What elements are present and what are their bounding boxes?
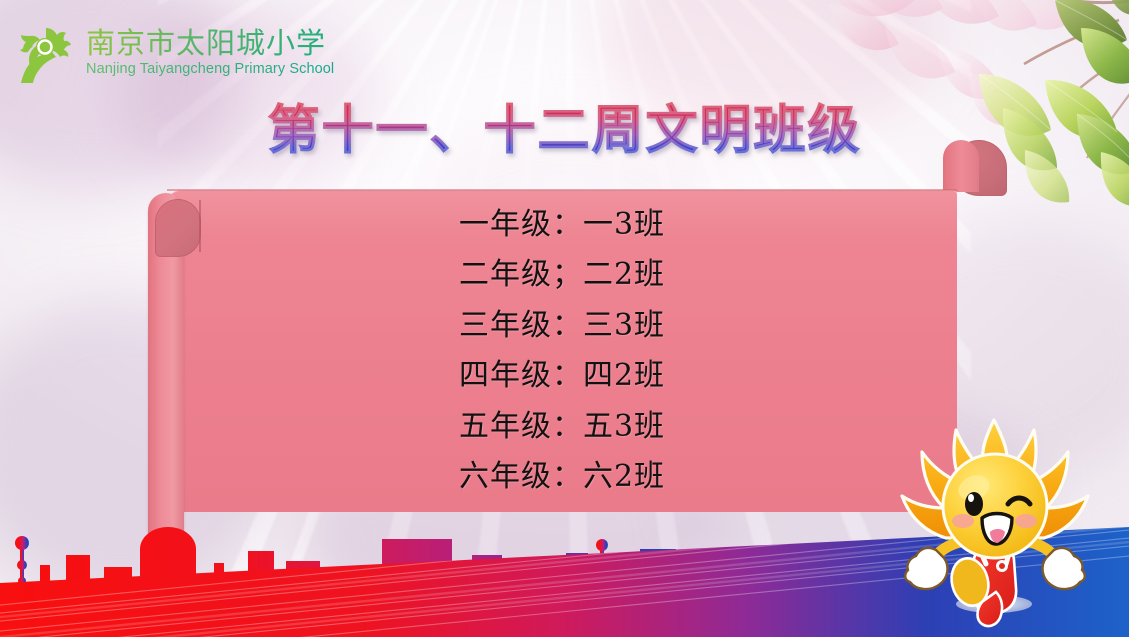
slide-canvas: 南京市太阳城小学 Nanjing Taiyangcheng Primary Sc…	[0, 0, 1129, 637]
school-name-cn: 南京市太阳城小学	[86, 28, 334, 58]
list-item: 三年级：三3班	[459, 301, 665, 352]
page-title: 第十一、十二周文明班级	[0, 88, 1129, 163]
sun-mascot-icon	[886, 414, 1106, 637]
list-item: 四年级：四2班	[459, 351, 665, 402]
list-item: 六年级：六2班	[459, 452, 665, 503]
page-title-text: 第十一、十二周文明班级	[267, 101, 861, 161]
sun-sprout-logo-icon	[14, 22, 76, 84]
school-logo: 南京市太阳城小学 Nanjing Taiyangcheng Primary Sc…	[14, 22, 334, 84]
class-list: 一年级：一3班 二年级；二2班 三年级：三3班 四年级：四2班 五年级：五3班 …	[167, 190, 957, 512]
list-item: 一年级：一3班	[459, 200, 665, 251]
list-item: 五年级：五3班	[459, 402, 665, 453]
list-item: 二年级；二2班	[459, 250, 665, 301]
school-name-en: Nanjing Taiyangcheng Primary School	[86, 61, 334, 78]
